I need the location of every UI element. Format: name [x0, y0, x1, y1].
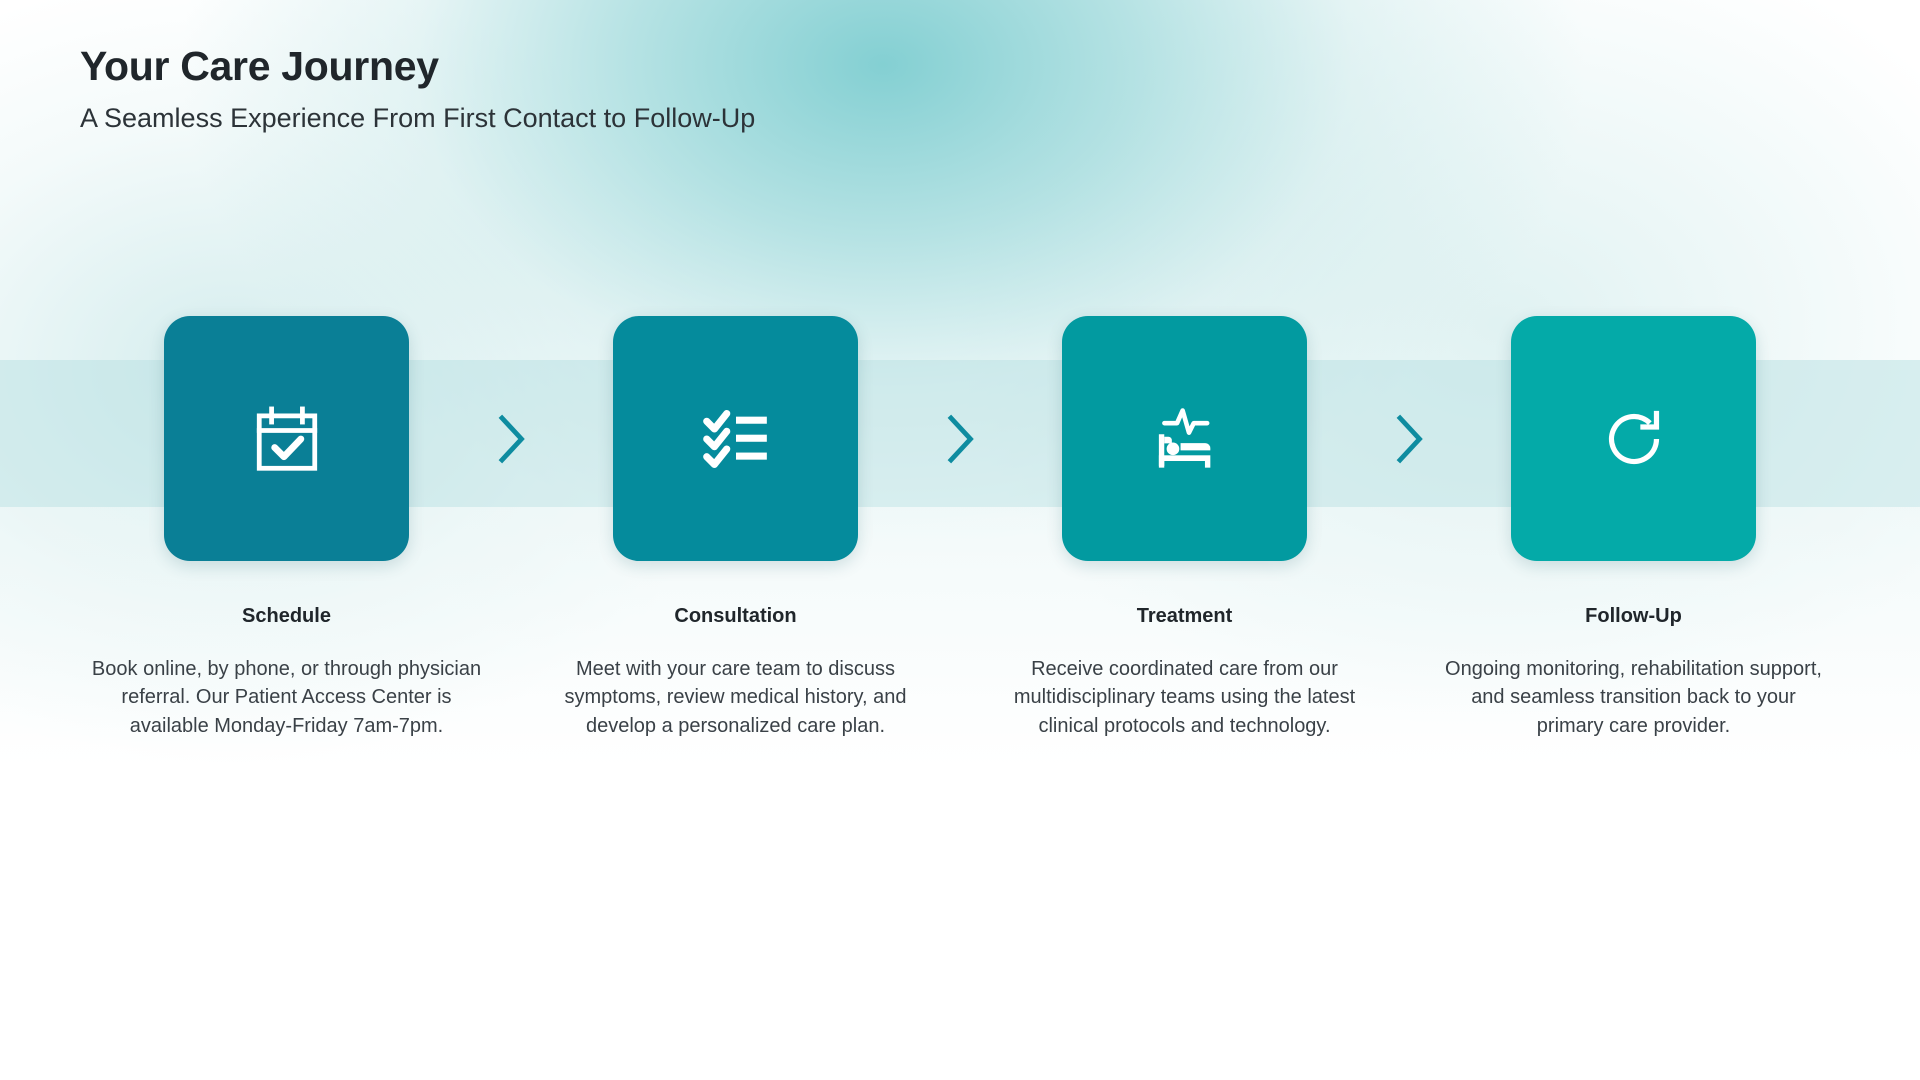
- step-title: Treatment: [1137, 604, 1233, 628]
- care-journey-steps: Schedule Book online, by phone, or throu…: [0, 316, 1920, 740]
- journey-step-treatment[interactable]: Treatment Receive coordinated care from …: [992, 316, 1377, 740]
- step-icon-card[interactable]: [613, 316, 858, 561]
- step-title: Consultation: [674, 604, 796, 628]
- step-description: Book online, by phone, or through physic…: [91, 655, 483, 740]
- step-description: Receive coordinated care from our multid…: [989, 655, 1381, 740]
- step-separator-2: [928, 316, 992, 561]
- refresh-circle-icon: [1596, 401, 1672, 477]
- calendar-check-icon: [250, 402, 324, 476]
- step-description: Ongoing monitoring, rehabilitation suppo…: [1438, 655, 1830, 740]
- step-icon-card[interactable]: [1062, 316, 1307, 561]
- step-description: Meet with your care team to discuss symp…: [540, 655, 932, 740]
- page-header: Your Care Journey A Seamless Experience …: [80, 44, 755, 134]
- step-icon-card[interactable]: [1511, 316, 1756, 561]
- chevron-right-icon: [493, 412, 529, 466]
- chevron-right-icon: [942, 412, 978, 466]
- journey-step-consultation[interactable]: Consultation Meet with your care team to…: [543, 316, 928, 740]
- step-separator-3: [1377, 316, 1441, 561]
- step-icon-card[interactable]: [164, 316, 409, 561]
- page-subtitle: A Seamless Experience From First Contact…: [80, 103, 755, 134]
- step-separator-1: [479, 316, 543, 561]
- step-title: Schedule: [242, 604, 331, 628]
- journey-step-schedule[interactable]: Schedule Book online, by phone, or throu…: [94, 316, 479, 740]
- journey-step-follow-up[interactable]: Follow-Up Ongoing monitoring, rehabilita…: [1441, 316, 1826, 740]
- checklist-icon: [699, 402, 773, 476]
- page-title: Your Care Journey: [80, 44, 755, 90]
- chevron-right-icon: [1391, 412, 1427, 466]
- step-title: Follow-Up: [1585, 604, 1682, 628]
- hospital-bed-vitals-icon: [1147, 401, 1223, 477]
